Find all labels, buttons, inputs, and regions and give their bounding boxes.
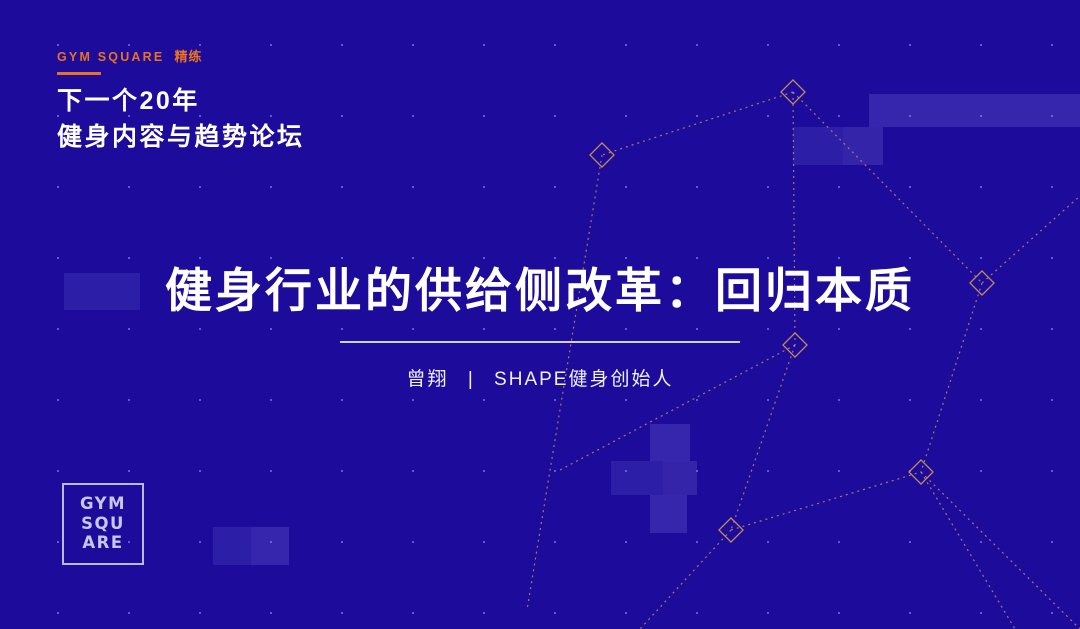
page-title: 健身行业的供给侧改革：回归本质 xyxy=(0,252,1080,321)
logo-line2: SQU xyxy=(81,515,125,533)
network-node-diamond xyxy=(719,518,743,542)
brand-name-cn: 精练 xyxy=(174,46,202,65)
network-node-diamond xyxy=(781,80,805,104)
decorative-block xyxy=(650,424,690,461)
brand-underline xyxy=(57,72,101,75)
network-node-diamond xyxy=(590,143,614,167)
network-edge xyxy=(640,530,731,629)
decorative-block xyxy=(650,495,687,533)
decorative-block xyxy=(843,127,883,165)
presentation-slide: GYM SQUARE 精练 下一个20年 健身内容与趋势论坛 健身行业的供给侧改… xyxy=(0,0,1080,629)
decorative-block xyxy=(663,461,697,495)
speaker-affiliation: SHAPE健身创始人 xyxy=(494,369,673,390)
title-divider xyxy=(340,341,740,343)
decorative-block xyxy=(611,461,663,495)
network-edge xyxy=(731,472,921,530)
event-title: 下一个20年 健身内容与趋势论坛 xyxy=(57,84,305,155)
network-edge xyxy=(921,472,1080,629)
event-title-line2: 健身内容与趋势论坛 xyxy=(57,120,305,156)
network-edge xyxy=(921,472,1015,629)
event-title-line1: 下一个20年 xyxy=(57,84,305,120)
decorative-block xyxy=(251,527,289,565)
logo-line1: GYM xyxy=(80,495,126,513)
decorative-block xyxy=(793,127,843,165)
decorative-block xyxy=(213,527,251,565)
decorative-block xyxy=(869,94,1080,127)
network-edge xyxy=(602,92,793,155)
speaker-credit: 曾翔 | SHAPE健身创始人 xyxy=(0,364,1080,391)
brand-lockup: GYM SQUARE 精练 xyxy=(57,46,202,75)
brand-line: GYM SQUARE 精练 xyxy=(57,46,202,65)
speaker-name: 曾翔 xyxy=(407,369,449,390)
network-node-diamond xyxy=(783,333,807,357)
speaker-separator: | xyxy=(456,369,487,390)
gym-square-logo: GYM SQU ARE xyxy=(62,483,144,565)
logo-line3: ARE xyxy=(82,534,123,552)
brand-name-en: GYM SQUARE xyxy=(57,50,164,64)
network-node-diamond xyxy=(909,460,933,484)
